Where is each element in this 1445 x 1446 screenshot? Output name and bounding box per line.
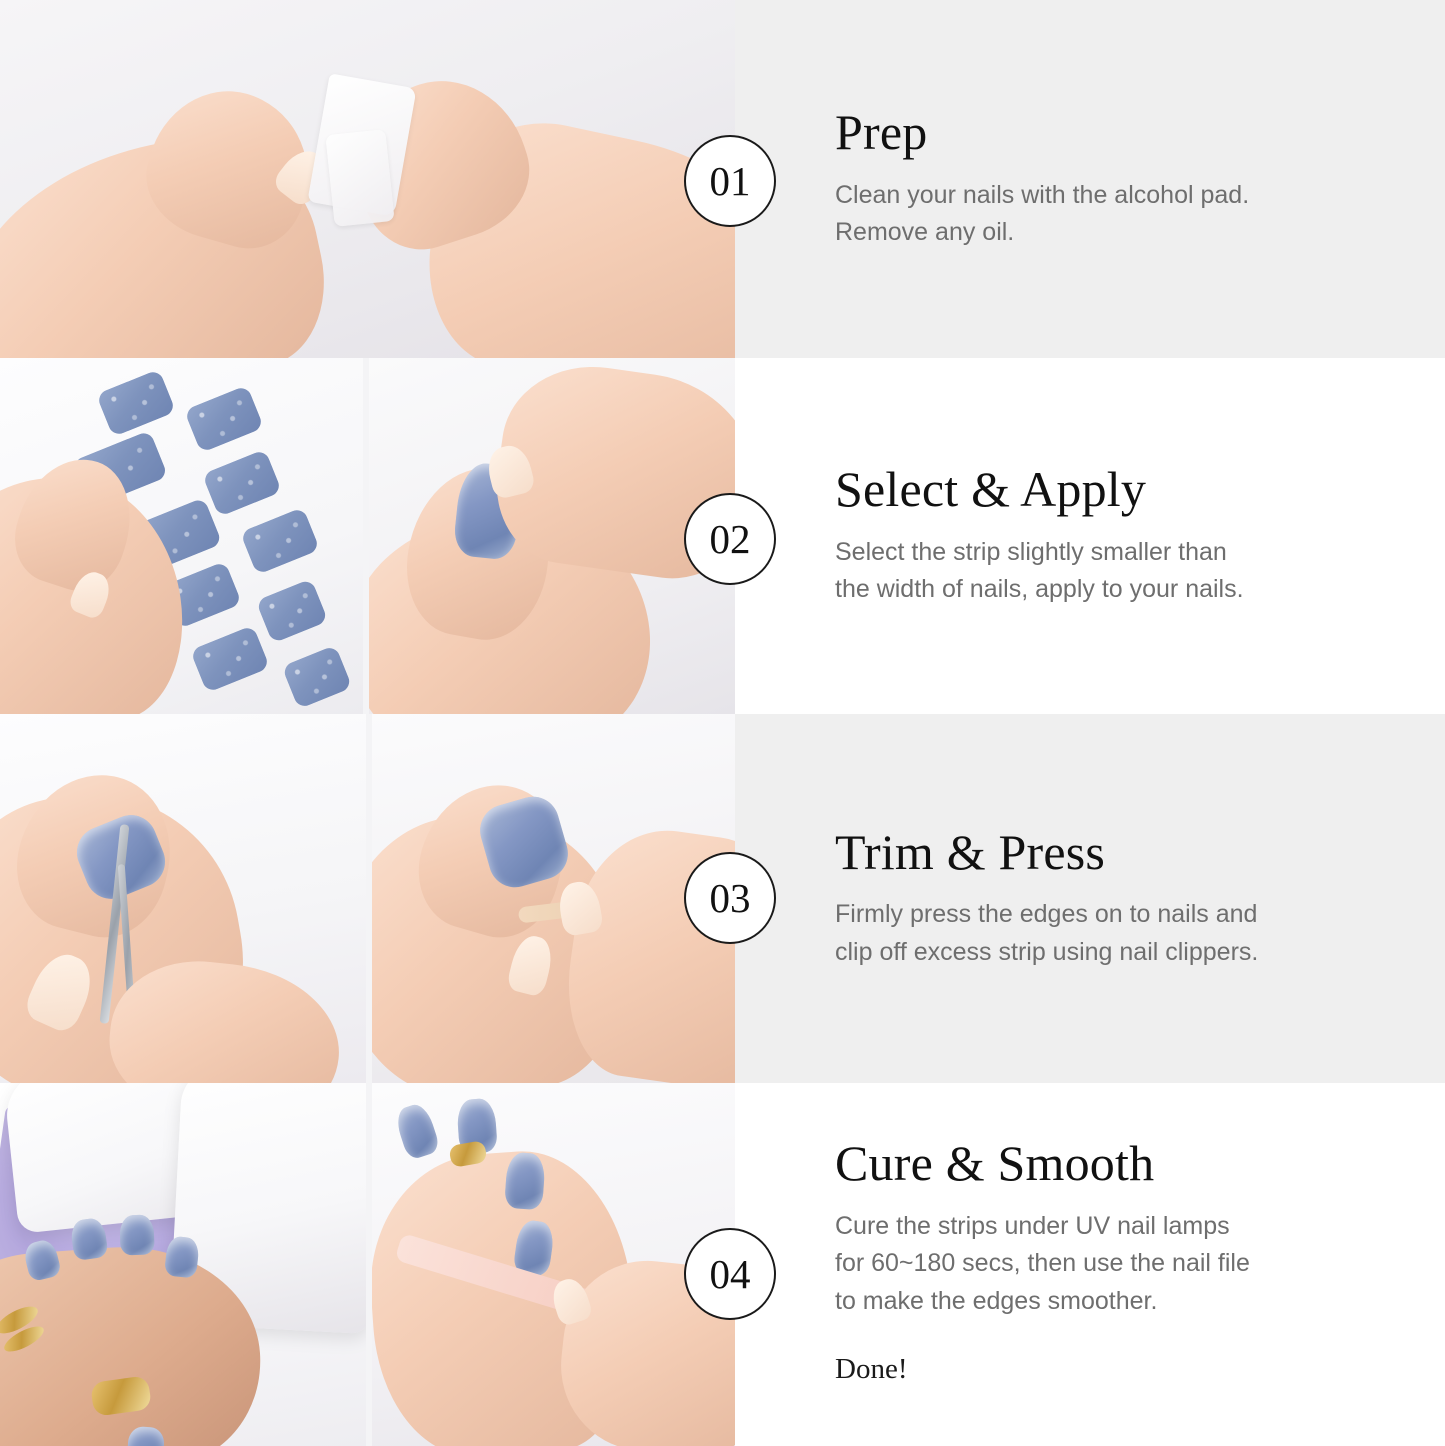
step-row-03: Trim & Press Firmly press the edges on t… — [0, 714, 1445, 1083]
step-04-title: Cure & Smooth — [835, 1137, 1365, 1190]
step-badge-03: 03 — [684, 852, 776, 944]
step-02-body-line-2: the width of nails, apply to your nails. — [835, 571, 1365, 609]
step-03-body-line-1: Firmly press the edges on to nails and — [835, 896, 1365, 934]
photo-pressing-edges-with-cuticle-stick — [372, 714, 735, 1083]
step-01-copy: Prep Clean your nails with the alcohol p… — [735, 0, 1445, 358]
step-03-body-line-2: clip off excess strip using nail clipper… — [835, 934, 1365, 972]
step-badge-04: 04 — [684, 1228, 776, 1320]
step-02-body-line-1: Select the strip slightly smaller than — [835, 534, 1365, 572]
step-02-copy: Select & Apply Select the strip slightly… — [735, 358, 1445, 714]
step-02-media — [0, 358, 735, 714]
step-04-copy: Cure & Smooth Cure the strips under UV n… — [735, 1083, 1445, 1446]
step-04-body-line-3: to make the edges smoother. — [835, 1283, 1365, 1321]
step-01-media — [0, 0, 735, 358]
step-04-body-line-2: for 60~180 secs, then use the nail file — [835, 1245, 1365, 1283]
instruction-sheet: Prep Clean your nails with the alcohol p… — [0, 0, 1445, 1446]
step-04-media — [0, 1083, 735, 1446]
step-row-01: Prep Clean your nails with the alcohol p… — [0, 0, 1445, 358]
alcohol-pad-fold — [325, 129, 394, 227]
step-badge-01: 01 — [684, 135, 776, 227]
photo-hand-under-uv-lamp — [0, 1083, 366, 1446]
cured-nail — [164, 1235, 200, 1278]
step-row-02: Select & Apply Select the strip slightly… — [0, 358, 1445, 714]
photo-hands-holding-alcohol-pad — [0, 0, 735, 358]
photo-trimming-strip-with-clippers — [0, 714, 366, 1083]
step-02-title: Select & Apply — [835, 463, 1365, 516]
step-01-title: Prep — [835, 106, 1365, 159]
photo-applying-strip-to-nail — [369, 358, 735, 714]
photo-hand-holding-nail-strip-sheet — [0, 358, 363, 714]
step-04-body-line-1: Cure the strips under UV nail lamps — [835, 1208, 1365, 1246]
photo-filing-nail-edges — [372, 1083, 735, 1446]
step-row-04: Cure & Smooth Cure the strips under UV n… — [0, 1083, 1445, 1446]
step-04-done-label: Done! — [835, 1348, 1365, 1392]
finished-nail — [504, 1152, 546, 1211]
step-03-media — [0, 714, 735, 1083]
cured-nail — [119, 1214, 154, 1255]
step-badge-02: 02 — [684, 493, 776, 585]
step-03-copy: Trim & Press Firmly press the edges on t… — [735, 714, 1445, 1083]
step-01-body-line-2: Remove any oil. — [835, 214, 1365, 252]
step-01-body-line-1: Clean your nails with the alcohol pad. — [835, 177, 1365, 215]
step-03-title: Trim & Press — [835, 826, 1365, 879]
